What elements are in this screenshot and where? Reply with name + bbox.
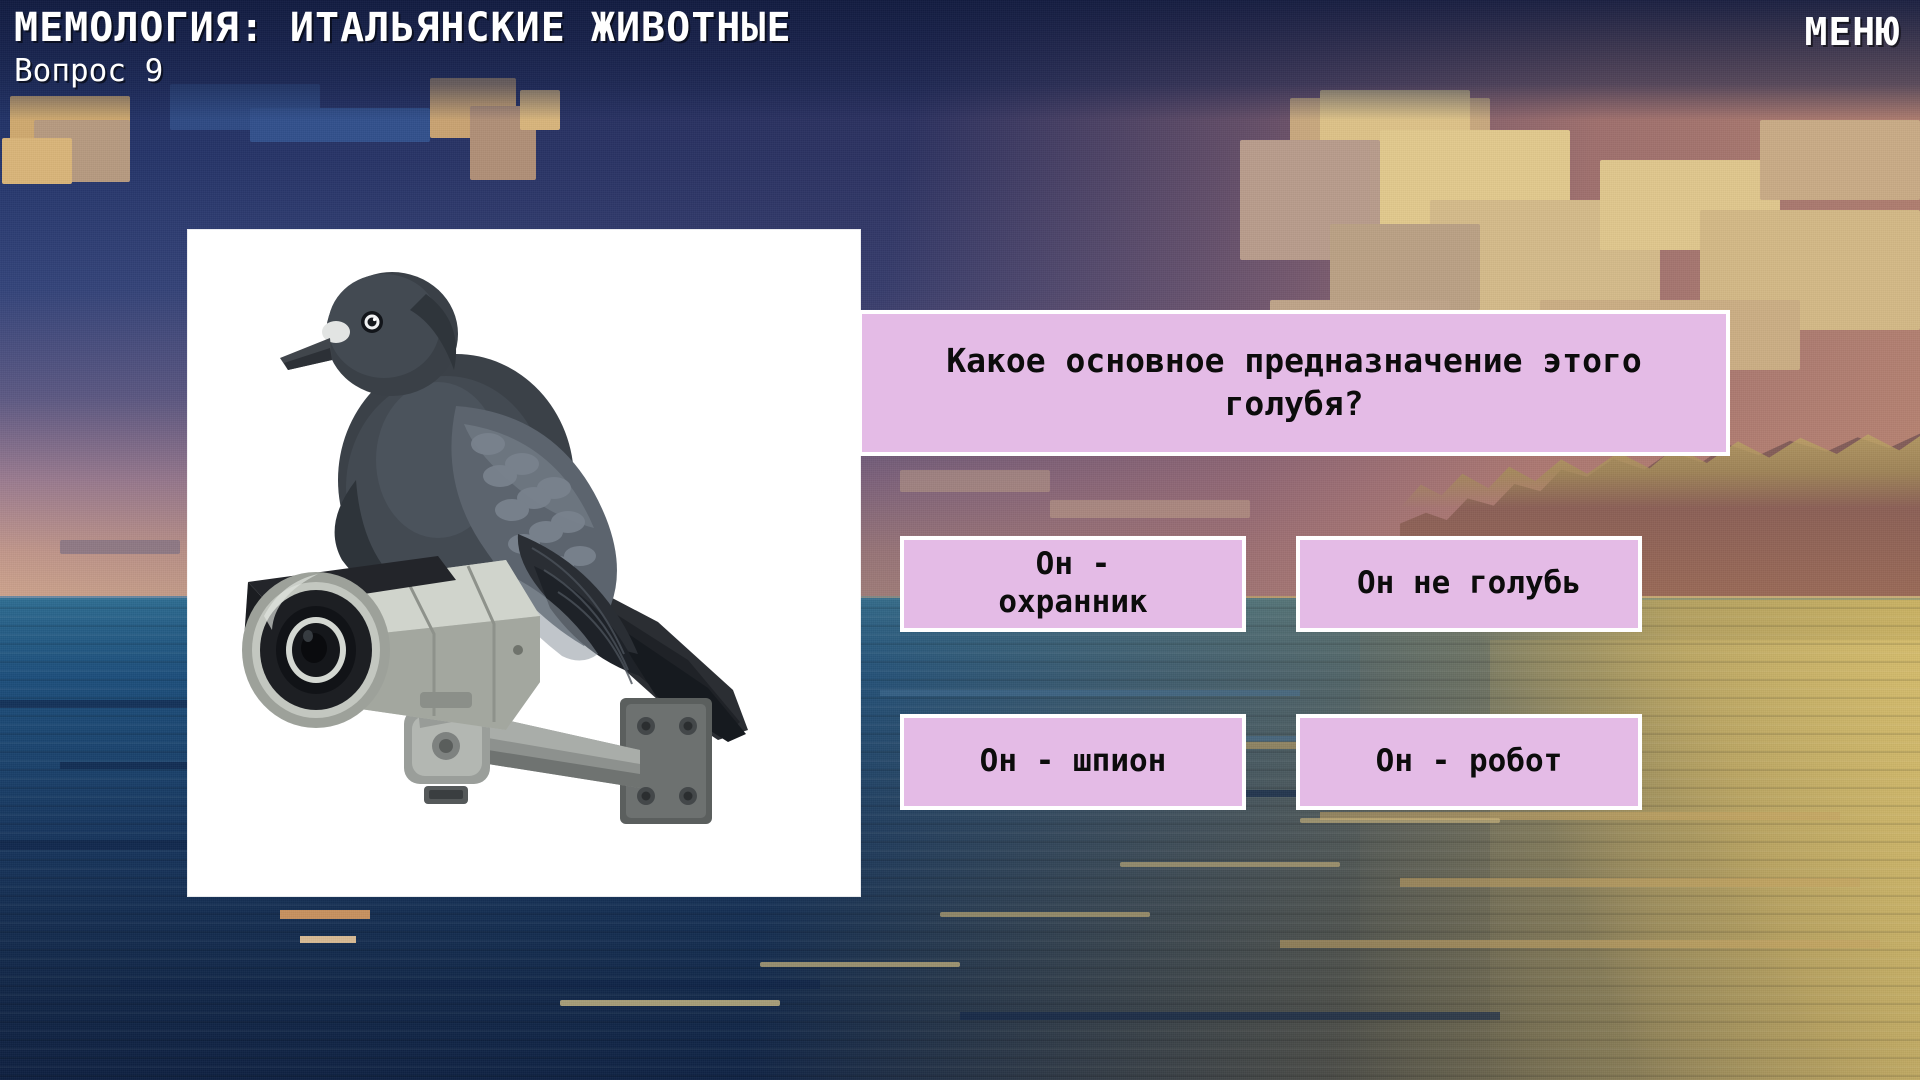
- question-image-card: [188, 230, 860, 896]
- header-bar: МЕМОЛОГИЯ: ИТАЛЬЯНСКИЕ ЖИВОТНЫЕ Вопрос 9…: [0, 0, 1920, 110]
- answer-button-3[interactable]: Он - шпион: [900, 714, 1246, 810]
- answer-button-2[interactable]: Он не голубь: [1296, 536, 1642, 632]
- answer-button-1[interactable]: Он - охранник: [900, 536, 1246, 632]
- question-counter: Вопрос 9: [14, 56, 792, 87]
- answer-label: Он не голубь: [1345, 565, 1593, 603]
- title-block: МЕМОЛОГИЯ: ИТАЛЬЯНСКИЕ ЖИВОТНЫЕ Вопрос 9: [14, 8, 792, 87]
- answer-label: Он - шпион: [968, 743, 1179, 781]
- answer-button-4[interactable]: Он - робот: [1296, 714, 1642, 810]
- question-panel: Какое основное предназначение этого голу…: [858, 310, 1730, 456]
- answer-label: Он - робот: [1364, 743, 1575, 781]
- pigeon-on-cctv-camera-illustration: [188, 230, 860, 896]
- answer-options-grid: Он - охранник Он не голубь Он - шпион Он…: [900, 536, 1720, 826]
- answer-label: Он - охранник: [986, 546, 1159, 622]
- question-text: Какое основное предназначение этого голу…: [862, 340, 1726, 426]
- menu-button[interactable]: МЕНЮ: [1804, 10, 1900, 54]
- game-title: МЕМОЛОГИЯ: ИТАЛЬЯНСКИЕ ЖИВОТНЫЕ: [14, 8, 792, 48]
